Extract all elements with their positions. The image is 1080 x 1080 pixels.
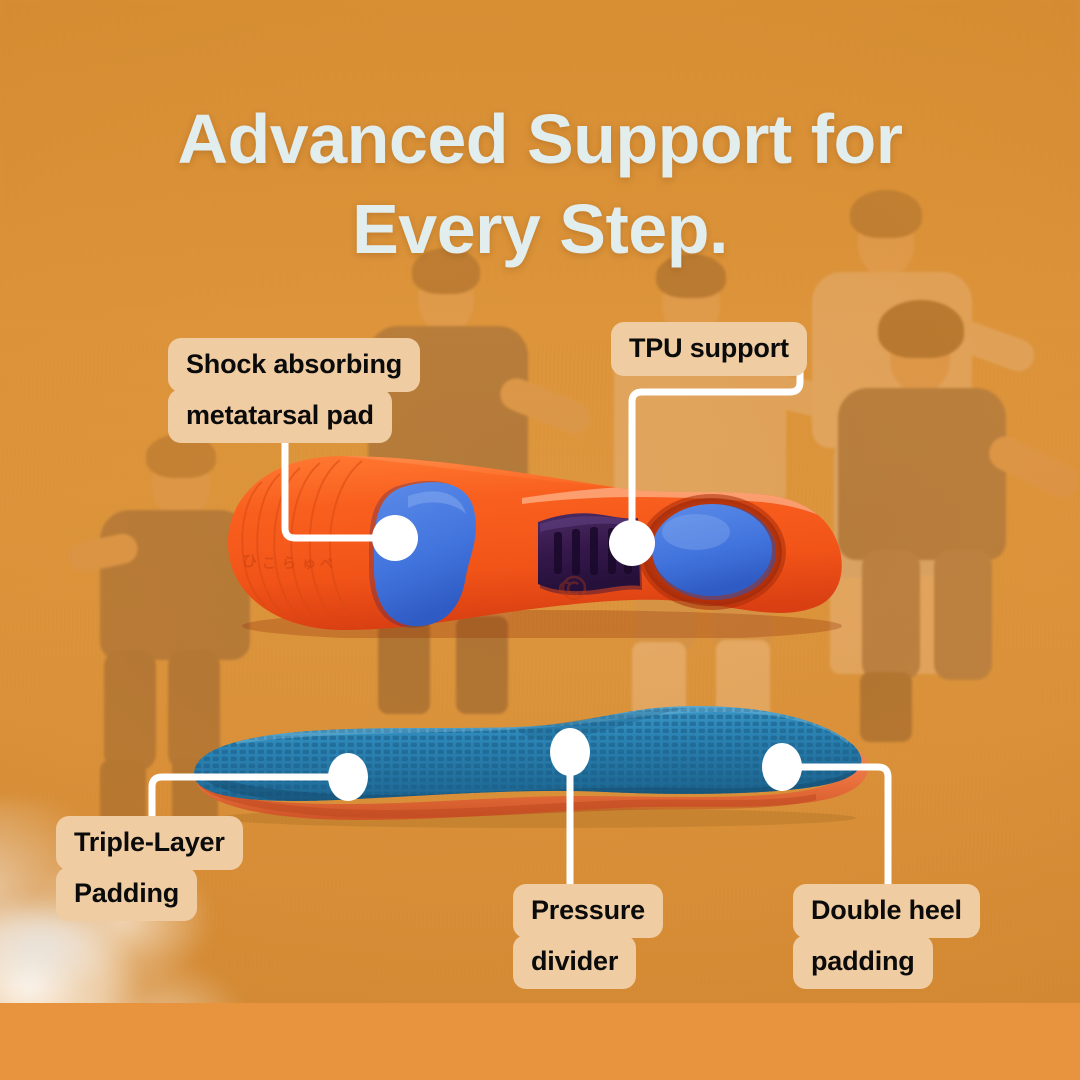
svg-text:こ: こ (262, 555, 276, 571)
callout-line: Shock absorbing (168, 338, 420, 392)
insole-top-view-image: ひ こ ら ゅ ペ (222, 448, 848, 638)
callout-triple-layer-padding[interactable]: Triple-Layer Padding (56, 816, 243, 921)
svg-text:ら: ら (282, 555, 296, 571)
headline-line-1: Advanced Support for (70, 95, 1010, 185)
poster-canvas: Advanced Support for Every Step. (0, 0, 1080, 1080)
svg-text:ペ: ペ (320, 556, 333, 571)
callout-line: metatarsal pad (168, 389, 392, 443)
callout-pressure-divider[interactable]: Pressure divider (513, 884, 663, 989)
callout-line: divider (513, 935, 636, 989)
callout-line: padding (793, 935, 933, 989)
svg-text:ひ: ひ (242, 553, 257, 570)
callout-line: TPU support (611, 322, 807, 376)
svg-text:ゅ: ゅ (302, 555, 316, 571)
callout-line: Pressure (513, 884, 663, 938)
callout-line: Triple-Layer (56, 816, 243, 870)
callout-line: Padding (56, 867, 197, 921)
page-title: Advanced Support for Every Step. (0, 95, 1080, 274)
headline-line-2: Every Step. (70, 185, 1010, 275)
callout-tpu-support[interactable]: TPU support (611, 322, 807, 376)
callout-line: Double heel (793, 884, 980, 938)
callout-shock-absorbing-metatarsal-pad[interactable]: Shock absorbing metatarsal pad (168, 338, 420, 443)
insole-side-view-image (176, 700, 886, 828)
footer-bar (0, 1003, 1080, 1080)
callout-double-heel-padding[interactable]: Double heel padding (793, 884, 980, 989)
